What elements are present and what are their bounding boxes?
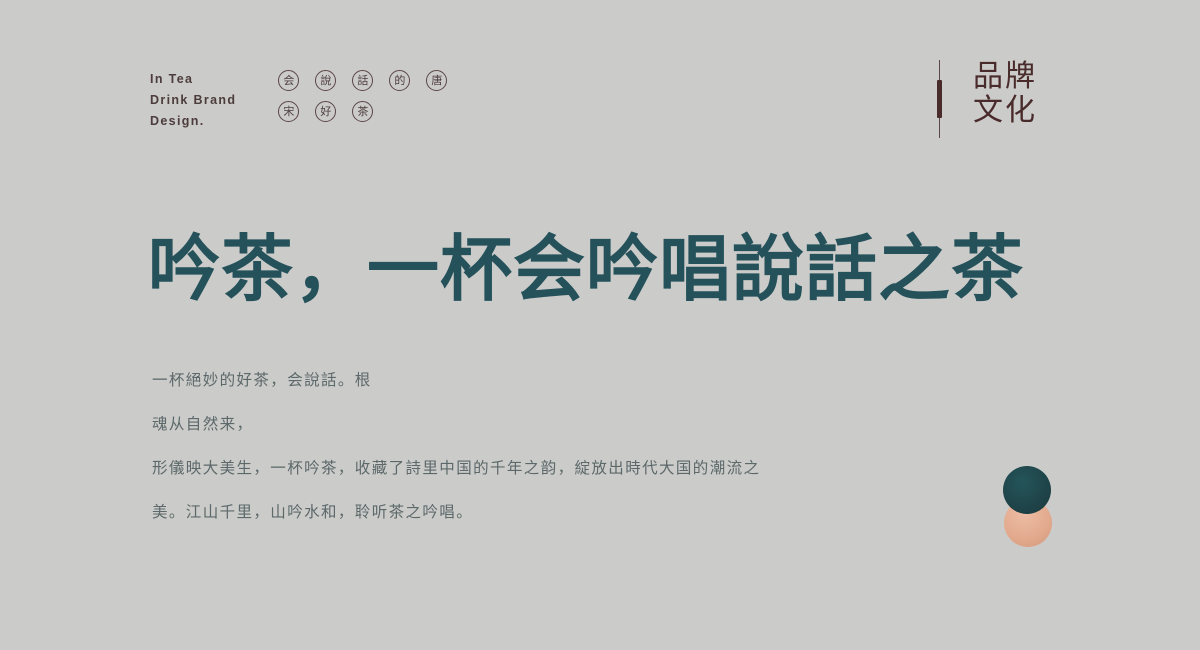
body-line: 美。江山千里，山吟水和，聆听茶之吟唱。 xyxy=(152,490,912,534)
wordmark-line-3: Design. xyxy=(150,111,236,132)
circled-character: 的 xyxy=(389,70,410,91)
brush-body xyxy=(937,80,942,118)
teal-circle-icon xyxy=(1003,466,1051,514)
brand-header-right: 品牌 文化 xyxy=(936,60,1037,138)
page-headline: 吟茶，一杯会吟唱說話之茶 xyxy=(148,226,1024,312)
circled-character: 話 xyxy=(352,70,373,91)
brand-header-left: In Tea Drink Brand Design. 会 說 話 的 唐 宋 好… xyxy=(150,68,447,132)
circled-character: 会 xyxy=(278,70,299,91)
brand-culture-line-2: 文化 xyxy=(973,94,1037,128)
poster-canvas: In Tea Drink Brand Design. 会 說 話 的 唐 宋 好… xyxy=(0,0,1200,650)
circled-character: 茶 xyxy=(352,101,373,122)
circled-character: 好 xyxy=(315,101,336,122)
slogan-character-grid: 会 說 話 的 唐 宋 好 茶 xyxy=(278,68,447,122)
circled-character: 宋 xyxy=(278,101,299,122)
slogan-row-top: 会 說 話 的 唐 xyxy=(278,70,447,91)
slogan-row-bottom: 宋 好 茶 xyxy=(278,101,447,122)
body-line: 形儀映大美生，一杯吟茶，收藏了詩里中国的千年之韵，綻放出時代大国的潮流之 xyxy=(152,446,912,490)
decorative-circles xyxy=(1003,466,1059,548)
brand-culture-line-1: 品牌 xyxy=(973,60,1037,94)
brush-stroke-icon xyxy=(936,60,943,138)
brand-culture-label: 品牌 文化 xyxy=(973,60,1037,128)
circled-character: 唐 xyxy=(426,70,447,91)
body-line: 一杯絕妙的好茶，会說話。根 xyxy=(152,358,912,402)
wordmark: In Tea Drink Brand Design. xyxy=(150,68,236,132)
wordmark-line-1: In Tea xyxy=(150,69,236,90)
circled-character: 說 xyxy=(315,70,336,91)
body-line: 魂从自然来， xyxy=(152,402,912,446)
wordmark-line-2: Drink Brand xyxy=(150,90,236,111)
body-copy: 一杯絕妙的好茶，会說話。根 魂从自然来， 形儀映大美生，一杯吟茶，收藏了詩里中国… xyxy=(152,358,912,534)
